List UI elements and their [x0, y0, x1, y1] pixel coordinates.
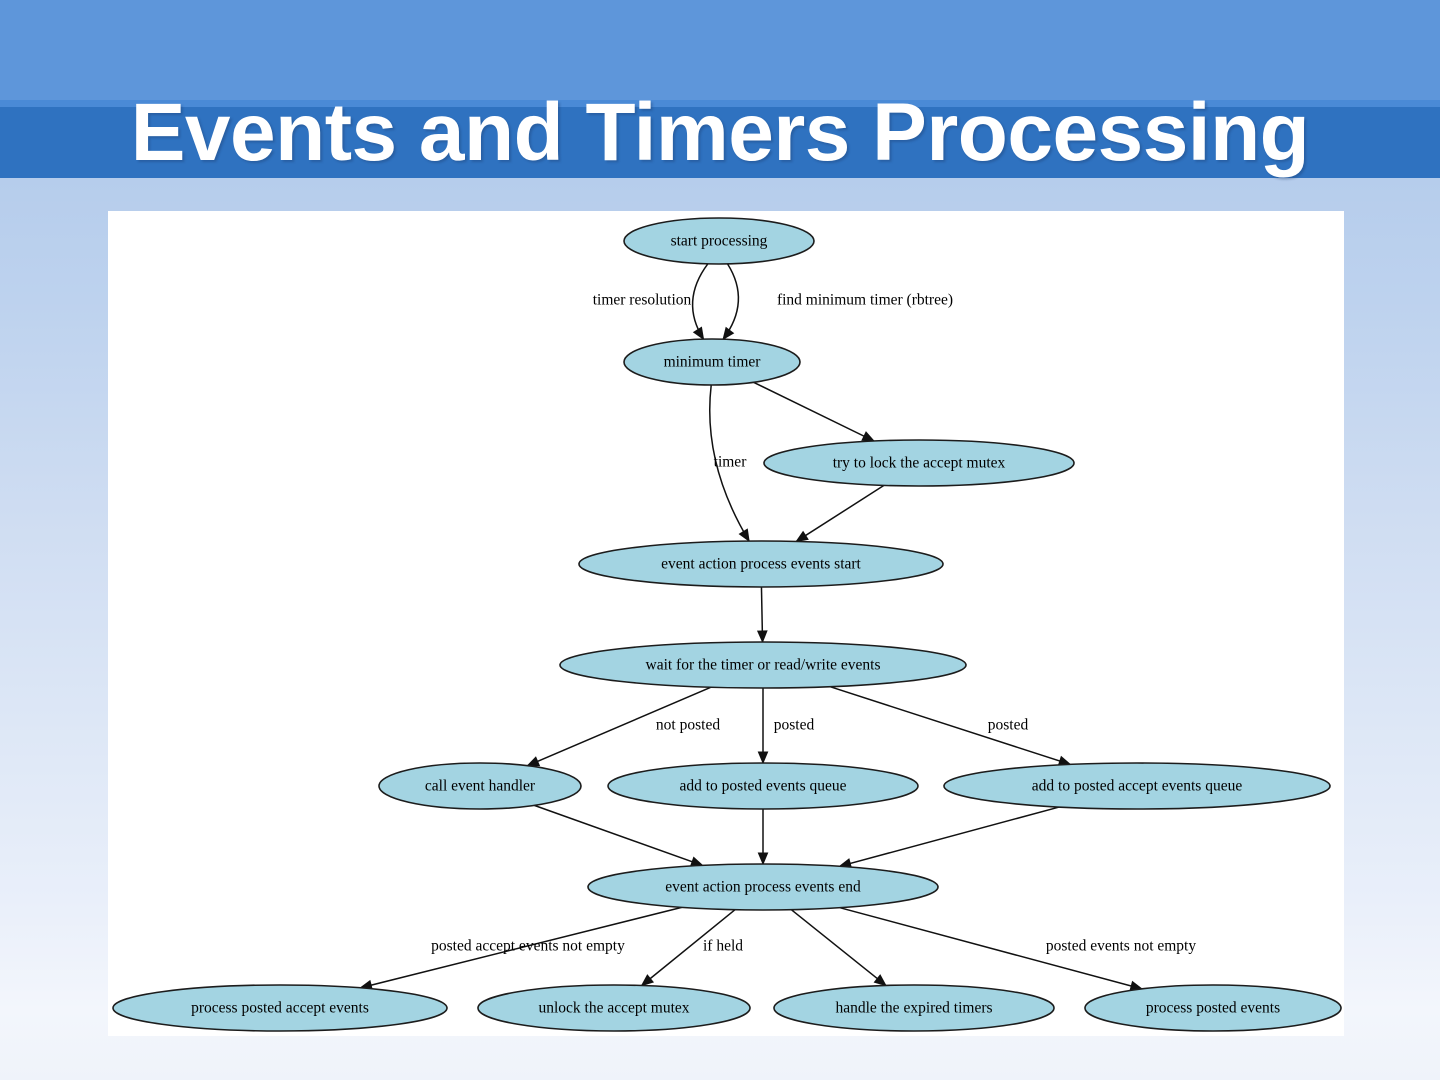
arrowhead-icon [862, 432, 874, 441]
flow-node-addposted[interactable]: add to posted events queue [608, 763, 918, 809]
arrowhead-icon [758, 752, 767, 763]
arrowhead-icon [874, 975, 885, 985]
nodes-layer: start processingminimum timertry to lock… [113, 218, 1341, 1031]
flowchart-graph: start processingminimum timertry to lock… [108, 211, 1344, 1036]
arrowhead-icon [796, 532, 808, 542]
flow-node-callhandler[interactable]: call event handler [379, 763, 581, 809]
node-label: minimum timer [664, 354, 762, 371]
arrowhead-icon [758, 631, 767, 642]
node-label: wait for the timer or read/write events [646, 657, 881, 674]
edge-addacceptposted-to-procend [840, 807, 1060, 866]
arrowhead-icon [739, 529, 749, 541]
edge-callhandler-to-procend [534, 805, 702, 865]
arrowhead-icon [694, 327, 704, 339]
edge-start-to-mintimer [723, 264, 738, 339]
arrowhead-icon [527, 757, 539, 766]
node-label: add to posted accept events queue [1032, 778, 1243, 795]
node-label: process posted accept events [191, 1000, 369, 1017]
flow-node-addacceptposted[interactable]: add to posted accept events queue [944, 763, 1330, 809]
lbl-timer-resolution: timer resolution [593, 292, 692, 309]
slide-root: Events and Timers Processing start proce… [0, 0, 1440, 1080]
flow-node-procacceptevents[interactable]: process posted accept events [113, 985, 447, 1031]
flow-node-start[interactable]: start processing [624, 218, 814, 264]
lbl-if-held: if held [703, 938, 743, 955]
node-label: event action process events start [661, 556, 861, 573]
flow-node-wait[interactable]: wait for the timer or read/write events [560, 642, 966, 688]
diagram-panel: start processingminimum timertry to lock… [108, 211, 1344, 1036]
edge-trylock-to-procstart [796, 485, 884, 541]
lbl-find-min-timer: find minimum timer (rbtree) [777, 292, 953, 309]
node-label: event action process events end [665, 879, 861, 896]
flow-node-unlockmutex[interactable]: unlock the accept mutex [478, 985, 750, 1031]
node-label: handle the expired timers [835, 1000, 992, 1017]
lbl-not-posted: not posted [656, 717, 720, 734]
node-label: call event handler [425, 778, 536, 795]
flow-node-expiredtimers[interactable]: handle the expired timers [774, 985, 1054, 1031]
edge-procend-to-expiredtimers [791, 910, 886, 986]
node-label: add to posted events queue [679, 778, 846, 795]
flow-node-trylock[interactable]: try to lock the accept mutex [764, 440, 1074, 486]
node-label: process posted events [1146, 1000, 1280, 1017]
arrowhead-icon [723, 328, 733, 340]
arrowhead-icon [758, 853, 767, 864]
flow-node-procend[interactable]: event action process events end [588, 864, 938, 910]
lbl-posted-mid: posted [774, 717, 815, 734]
lbl-posted-right: posted [988, 717, 1029, 734]
flow-node-procstart[interactable]: event action process events start [579, 541, 943, 587]
node-label: try to lock the accept mutex [833, 455, 1006, 472]
lbl-timer: timer [714, 454, 748, 471]
arrowhead-icon [642, 975, 653, 986]
node-label: start processing [671, 233, 768, 250]
edge-mintimer-to-trylock [754, 382, 874, 441]
page-title: Events and Timers Processing [0, 78, 1440, 188]
lbl-posted-not-empty: posted events not empty [1046, 938, 1196, 955]
edge-labels-layer: timer resolutionfind minimum timer (rbtr… [431, 292, 1196, 955]
flow-node-mintimer[interactable]: minimum timer [624, 339, 800, 385]
node-label: unlock the accept mutex [538, 1000, 689, 1017]
lbl-accept-not-empty: posted accept events not empty [431, 938, 625, 955]
flow-node-procpostedevents[interactable]: process posted events [1085, 985, 1341, 1031]
edge-wait-to-addacceptposted [830, 687, 1070, 765]
